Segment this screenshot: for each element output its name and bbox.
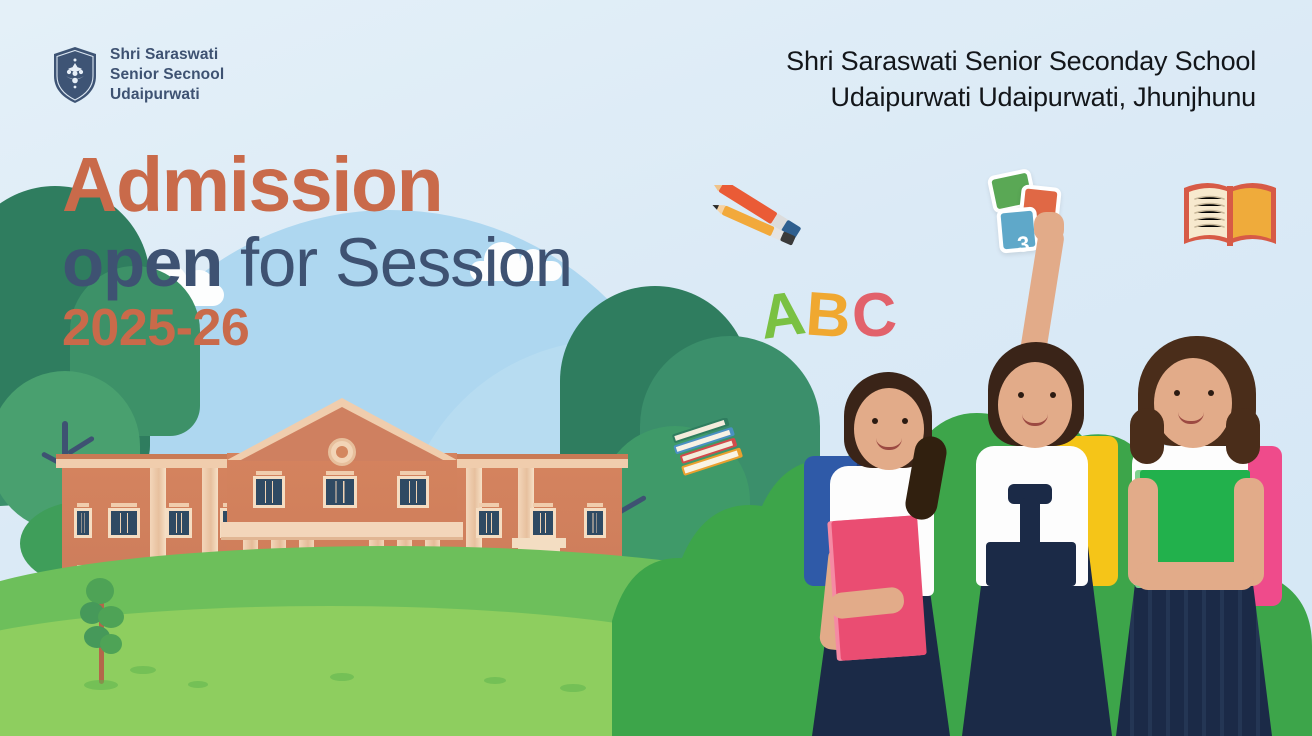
logo-line-1: Shri Saraswati <box>110 45 224 65</box>
window <box>397 476 429 508</box>
eye <box>1208 390 1214 396</box>
school-name-line-1: Shri Saraswati Senior Seconday School <box>786 44 1256 80</box>
window <box>166 508 192 538</box>
eye <box>872 418 878 424</box>
raised-hand <box>1034 212 1064 242</box>
portico-roof <box>221 522 463 540</box>
logo-text: Shri Saraswati Senior Secnool Udaipurwat… <box>110 45 224 104</box>
school-logo: Shri Saraswati Senior Secnool Udaipurwat… <box>52 45 224 104</box>
window <box>584 508 606 538</box>
eye <box>1174 390 1180 396</box>
headline-session-years: 2025-26 <box>62 301 572 356</box>
curl-left <box>1130 408 1164 464</box>
headline-line-1: Admission <box>62 150 572 221</box>
window <box>323 476 357 508</box>
pinafore-bib <box>986 542 1076 586</box>
book-stack-icon <box>672 418 746 480</box>
headline-line-2: open for Session <box>62 227 572 299</box>
rosette-icon <box>328 438 356 466</box>
school-name-heading: Shri Saraswati Senior Seconday School Ud… <box>786 44 1256 115</box>
pediment <box>227 398 457 460</box>
admission-banner: Shri Saraswati Senior Secnool Udaipurwat… <box>0 0 1312 736</box>
forearm <box>1136 562 1254 590</box>
headline-open-word: open <box>62 224 222 301</box>
eye <box>1018 392 1024 398</box>
window <box>253 476 285 508</box>
window <box>74 508 92 538</box>
school-name-line-2: Udaipurwati Udaipurwati, Jhunjhunu <box>786 80 1256 116</box>
curl-right <box>1226 408 1260 464</box>
face <box>998 362 1072 448</box>
headline-for-session: for Session <box>222 224 572 301</box>
window <box>476 508 502 538</box>
shield-crest-icon <box>52 46 98 104</box>
students-group <box>772 216 1312 736</box>
window <box>108 508 140 538</box>
logo-line-2: Senior Secnool <box>110 65 224 85</box>
eye <box>1050 392 1056 398</box>
door-canopy <box>512 538 566 548</box>
face <box>1154 358 1232 448</box>
logo-line-3: Udaipurwati <box>110 85 224 105</box>
headline: Admission open for Session 2025-26 <box>62 150 572 356</box>
eye <box>902 418 908 424</box>
student-right <box>1092 256 1312 736</box>
